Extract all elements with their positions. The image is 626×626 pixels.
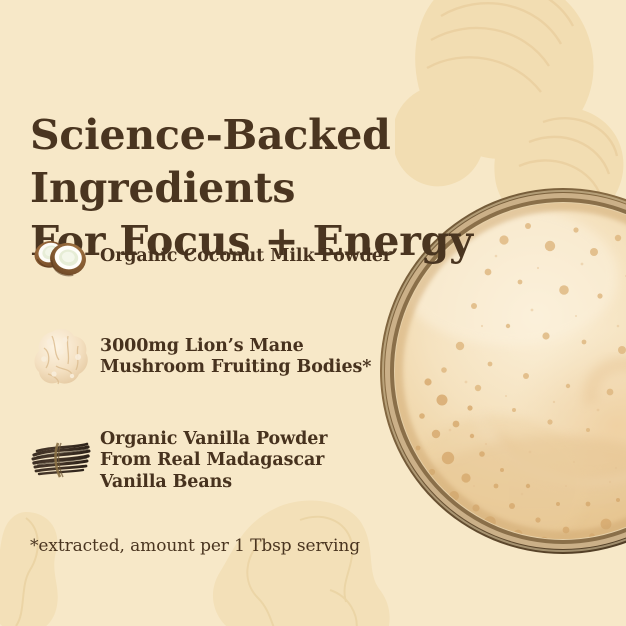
list-item: Organic Coconut Milk Powder xyxy=(28,226,428,288)
leaf-watermark xyxy=(0,508,92,626)
ingredient-text: 3000mg Lion’s Mane Mushroom Fruiting Bod… xyxy=(94,336,371,379)
ingredient-line: From Real Madagascar xyxy=(100,450,327,472)
lions-mane-mushroom-icon xyxy=(28,326,94,388)
list-item: Organic Vanilla Powder From Real Madagas… xyxy=(28,416,428,506)
vanilla-beans-icon xyxy=(28,439,94,483)
promo-graphic: Science-Backed Ingredients For Focus + E… xyxy=(0,0,626,626)
ingredient-line: Organic Vanilla Powder xyxy=(100,429,327,451)
list-item: 3000mg Lion’s Mane Mushroom Fruiting Bod… xyxy=(28,314,428,400)
ingredient-line: 3000mg Lion’s Mane xyxy=(100,336,371,358)
ingredient-line: Organic Coconut Milk Powder xyxy=(100,246,392,268)
ingredient-line: Mushroom Fruiting Bodies* xyxy=(100,357,371,379)
ingredient-text: Organic Vanilla Powder From Real Madagas… xyxy=(94,429,327,494)
ingredients-list: Organic Coconut Milk Powder xyxy=(28,226,428,506)
footnote: *extracted, amount per 1 Tbsp serving xyxy=(30,536,360,556)
coconut-icon xyxy=(28,233,94,281)
ingredient-text: Organic Coconut Milk Powder xyxy=(94,246,392,268)
headline-line-1: Science-Backed Ingredients xyxy=(30,111,391,212)
ingredient-line: Vanilla Beans xyxy=(100,472,327,494)
